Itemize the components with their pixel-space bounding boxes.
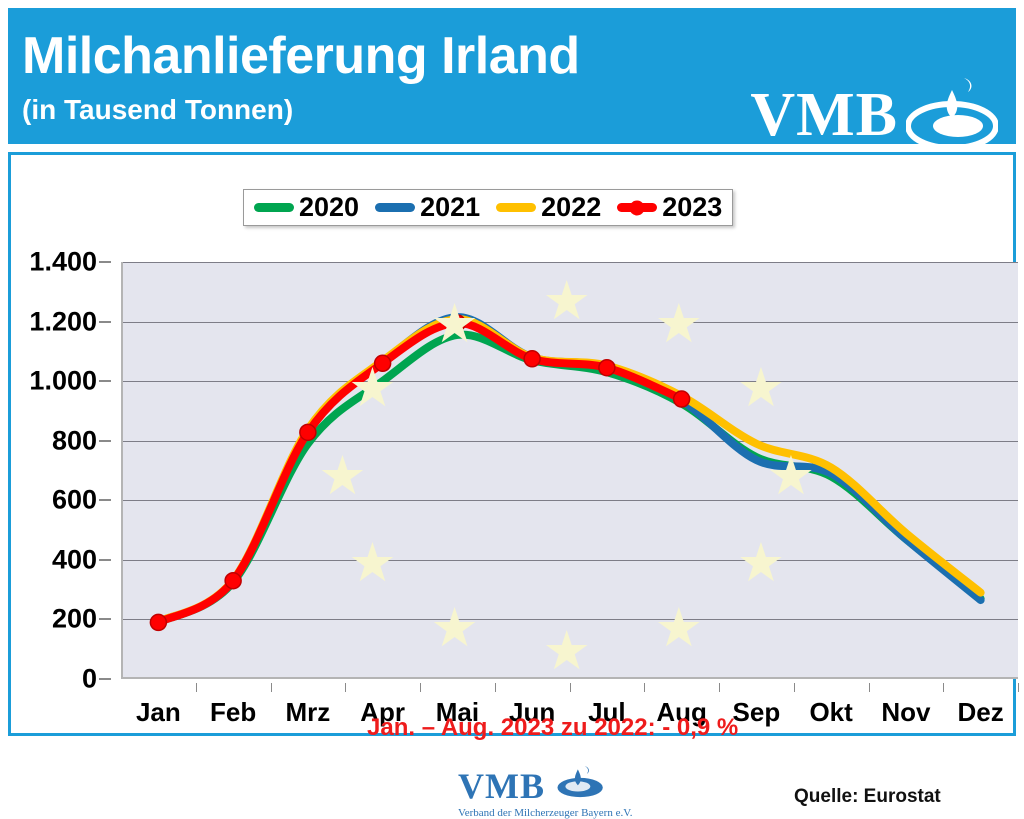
series-lines xyxy=(121,262,1018,679)
source-credit: Quelle: Eurostat xyxy=(794,786,941,808)
data-point-2023[interactable] xyxy=(300,424,316,440)
data-point-2023[interactable] xyxy=(524,351,540,367)
x-axis-label-dez: Dez xyxy=(958,697,1004,728)
legend-item-2020[interactable]: 2020 xyxy=(254,194,359,221)
y-axis-label: 200 xyxy=(52,604,97,635)
page-title: Milchanlieferung Irland xyxy=(22,30,580,82)
y-axis-tick xyxy=(99,678,111,680)
data-point-2023[interactable] xyxy=(674,391,690,407)
chart-legend: 2020 2021 2022 2023 xyxy=(243,189,733,226)
legend-item-2023[interactable]: 2023 xyxy=(617,194,722,221)
x-axis-tick xyxy=(1018,683,1019,692)
y-axis-label: 0 xyxy=(82,664,97,695)
legend-item-2021[interactable]: 2021 xyxy=(375,194,480,221)
y-axis-label: 800 xyxy=(52,425,97,456)
x-axis-label-sep: Sep xyxy=(733,697,781,728)
y-axis-tick xyxy=(99,261,111,263)
legend-swatch-2023 xyxy=(617,203,657,212)
data-point-2023[interactable] xyxy=(225,573,241,589)
y-axis-label: 1.000 xyxy=(29,366,97,397)
legend-label-2022: 2022 xyxy=(541,194,601,221)
x-axis-label-okt: Okt xyxy=(809,697,852,728)
x-axis-tick xyxy=(196,683,197,692)
y-axis-label: 400 xyxy=(52,544,97,575)
y-axis-tick xyxy=(99,321,111,323)
y-axis-tick xyxy=(99,440,111,442)
y-axis-tick xyxy=(99,618,111,620)
legend-label-2023: 2023 xyxy=(662,194,722,221)
vmb-logo: VMB xyxy=(750,74,998,155)
legend-marker-2023 xyxy=(630,200,645,215)
x-axis-tick xyxy=(794,683,795,692)
y-axis-label: 1.200 xyxy=(29,306,97,337)
page-subtitle: (in Tausend Tonnen) xyxy=(22,96,293,124)
vmb-logo-text: VMB xyxy=(750,84,898,146)
y-axis-label: 1.400 xyxy=(29,247,97,278)
x-axis-label-mrz: Mrz xyxy=(285,697,330,728)
chart-page: Milchanlieferung Irland (in Tausend Tonn… xyxy=(0,0,1024,744)
x-axis-tick xyxy=(495,683,496,692)
y-axis-tick xyxy=(99,559,111,561)
y-axis-label: 600 xyxy=(52,485,97,516)
x-axis-tick xyxy=(719,683,720,692)
milk-drop-icon-watermark xyxy=(551,766,607,806)
data-point-2023[interactable] xyxy=(375,355,391,371)
legend-swatch-2021 xyxy=(375,203,415,212)
legend-label-2020: 2020 xyxy=(299,194,359,221)
data-point-2023[interactable] xyxy=(449,315,465,331)
vmb-watermark-text: VMB xyxy=(458,766,633,806)
x-axis-label-nov: Nov xyxy=(881,697,930,728)
x-axis-tick xyxy=(420,683,421,692)
comparison-annotation: Jan. – Aug. 2023 zu 2022: - 0,9 % xyxy=(367,714,738,742)
x-axis-tick xyxy=(644,683,645,692)
vmb-watermark: VMB Verband der Milcherzeuger Bayern e.V… xyxy=(458,766,633,819)
plot-area: ★★★★★★★★★★★★ xyxy=(121,262,1018,679)
legend-swatch-2022 xyxy=(496,203,536,212)
header-banner: Milchanlieferung Irland (in Tausend Tonn… xyxy=(8,8,1016,144)
milk-drop-icon xyxy=(906,74,998,155)
x-axis-tick xyxy=(271,683,272,692)
x-axis-label-feb: Feb xyxy=(210,697,256,728)
y-axis: 1.4001.2001.0008006004002000 xyxy=(11,262,111,679)
x-axis-tick xyxy=(345,683,346,692)
data-point-2023[interactable] xyxy=(599,360,615,376)
y-axis-tick xyxy=(99,499,111,501)
chart-container: 2020 2021 2022 2023 1.4001.2001.00080060… xyxy=(8,152,1016,736)
x-axis-tick xyxy=(869,683,870,692)
x-axis-label-jan: Jan xyxy=(136,697,181,728)
vmb-watermark-subtitle: Verband der Milcherzeuger Bayern e.V. xyxy=(458,807,633,819)
legend-label-2021: 2021 xyxy=(420,194,480,221)
legend-item-2022[interactable]: 2022 xyxy=(496,194,601,221)
y-axis-tick xyxy=(99,380,111,382)
x-axis-tick xyxy=(570,683,571,692)
x-axis-tick xyxy=(943,683,944,692)
legend-swatch-2020 xyxy=(254,203,294,212)
data-point-2023[interactable] xyxy=(150,614,166,630)
